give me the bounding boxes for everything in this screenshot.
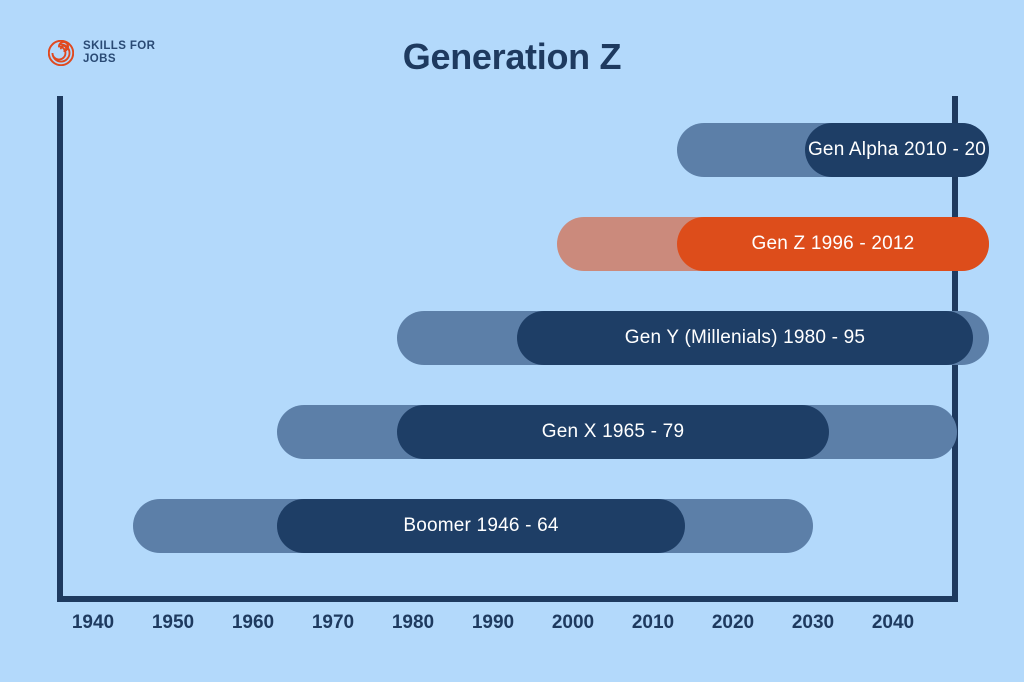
tick-label-2030: 2030 xyxy=(792,612,834,634)
bar-fill-boomer[interactable]: Boomer 1946 - 64 xyxy=(277,499,685,553)
tick-label-1950: 1950 xyxy=(152,612,194,634)
bar-fill-gen-y-millenials[interactable]: Gen Y (Millenials) 1980 - 95 xyxy=(517,311,973,365)
bar-row: Gen Alpha 2010 - 20 xyxy=(0,123,1024,177)
bar-label: Boomer 1946 - 64 xyxy=(389,515,572,537)
bar-label: Gen Z 1996 - 2012 xyxy=(738,233,929,255)
tick-label-1960: 1960 xyxy=(232,612,274,634)
generations-timeline-chart: Gen Alpha 2010 - 20Gen Z 1996 - 2012Gen … xyxy=(0,0,1024,682)
tick-label-1940: 1940 xyxy=(72,612,114,634)
tick-label-2000: 2000 xyxy=(552,612,594,634)
bar-row: Gen Z 1996 - 2012 xyxy=(0,217,1024,271)
tick-label-2040: 2040 xyxy=(872,612,914,634)
bar-row: Gen X 1965 - 79 xyxy=(0,405,1024,459)
x-axis-line xyxy=(57,596,958,602)
tick-label-2020: 2020 xyxy=(712,612,754,634)
x-axis-tick-labels: 1940195019601970198019902000201020202030… xyxy=(0,612,1024,646)
bar-row: Gen Y (Millenials) 1980 - 95 xyxy=(0,311,1024,365)
tick-label-1970: 1970 xyxy=(312,612,354,634)
bar-fill-gen-alpha[interactable]: Gen Alpha 2010 - 20 xyxy=(805,123,989,177)
tick-label-2010: 2010 xyxy=(632,612,674,634)
tick-label-1980: 1980 xyxy=(392,612,434,634)
bar-fill-gen-x[interactable]: Gen X 1965 - 79 xyxy=(397,405,829,459)
tick-label-1990: 1990 xyxy=(472,612,514,634)
bar-label: Gen Y (Millenials) 1980 - 95 xyxy=(611,327,879,349)
bar-label: Gen X 1965 - 79 xyxy=(528,421,698,443)
bar-row: Boomer 1946 - 64 xyxy=(0,499,1024,553)
bar-label: Gen Alpha 2010 - 20 xyxy=(794,139,1000,161)
bar-fill-gen-z[interactable]: Gen Z 1996 - 2012 xyxy=(677,217,989,271)
